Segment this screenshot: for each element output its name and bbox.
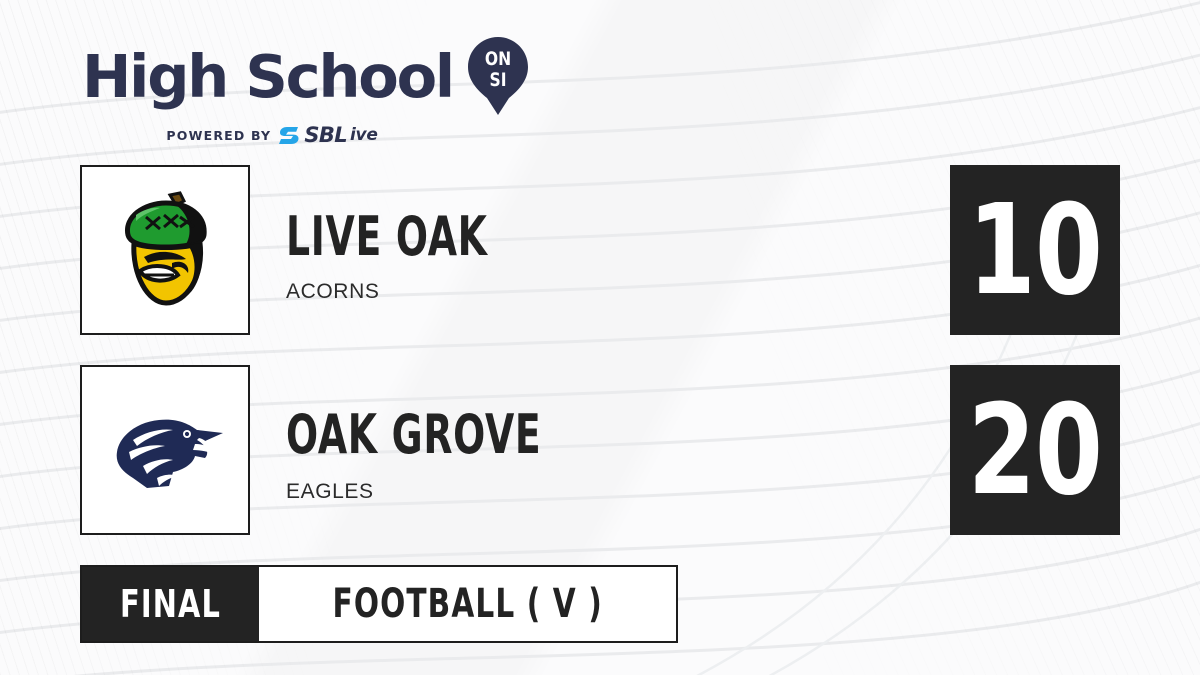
sblive-s-mark-icon [279,125,301,146]
sblive-logo: SBL ive [279,125,377,146]
sport-label: FOOTBALL ( V ) [333,584,603,624]
brand-logo-row: High School ON SI [82,36,529,116]
score-box-home: 10 [950,165,1120,335]
sblive-name: SBL [304,125,347,146]
game-state-badge: FINAL [82,567,259,641]
pin-text-si: SI [489,70,506,92]
sblive-name-suffix: ive [350,127,378,144]
team-logo-box-home [80,165,250,335]
on-si-pin-svg: ON SI [467,36,529,116]
game-state-label: FINAL [120,585,221,623]
eagle-head-logo-icon [103,400,227,500]
team-name-away: OAK GROVE [286,408,541,462]
team-mascot-away: EAGLES [286,480,374,504]
powered-by-row: POWERED BY SBL ive [82,125,462,146]
team-mascot-home: ACORNS [286,280,379,304]
team-logo-box-away [80,365,250,535]
acorn-mascot-logo-icon [110,191,220,309]
score-value-away: 20 [968,388,1102,513]
team-name-home: LIVE OAK [286,210,488,264]
status-bar: FINAL FOOTBALL ( V ) [80,565,678,643]
powered-by-label: POWERED BY [166,128,271,143]
scoreboard-graphic: High School ON SI POWERED BY SBL ive [0,0,1200,675]
sport-label-container: FOOTBALL ( V ) [259,567,676,641]
brand-logo: High School ON SI POWERED BY SBL ive [82,36,529,146]
pin-text-on: ON [485,49,511,71]
on-si-pin-icon: ON SI [467,36,529,116]
score-value-home: 10 [968,188,1102,313]
score-box-away: 20 [950,365,1120,535]
brand-title: High School [82,47,453,106]
